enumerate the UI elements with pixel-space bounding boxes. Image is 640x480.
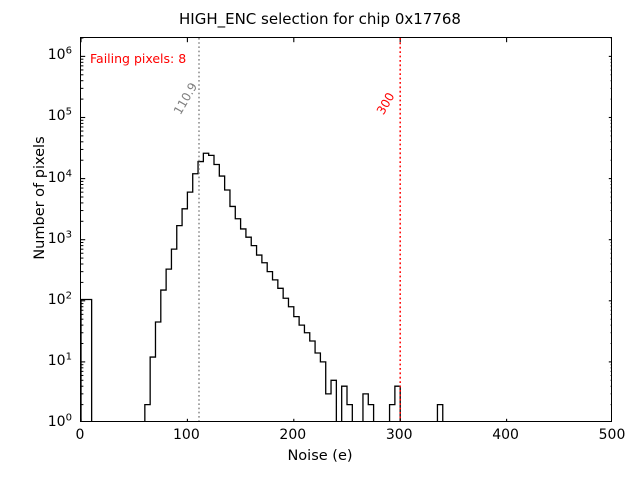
y-axis-tick-label: 101 [48, 353, 72, 369]
x-axis-label: Noise (e) [0, 448, 640, 464]
chart-title: HIGH_ENC selection for chip 0x17768 [0, 10, 640, 28]
x-axis-tick-label: 200 [279, 427, 306, 443]
x-axis-tick-marks [81, 38, 612, 422]
y-axis-tick-label: 104 [48, 170, 72, 186]
y-axis-tick-label: 103 [48, 231, 72, 247]
y-axis-label: Number of pixels [32, 78, 48, 318]
y-axis-tick-marks [81, 38, 612, 422]
y-axis-tick-label: 106 [48, 47, 72, 63]
x-axis-tick-label: 100 [173, 427, 200, 443]
y-axis-tick-label: 105 [48, 108, 72, 124]
histogram-steps [81, 153, 612, 422]
x-axis-tick-label: 400 [492, 427, 519, 443]
failing-pixels-annotation: Failing pixels: 8 [90, 51, 186, 66]
chart-figure: HIGH_ENC selection for chip 0x17768 1001… [0, 0, 640, 480]
x-axis-tick-label: 500 [599, 427, 626, 443]
y-axis-tick-label: 100 [48, 414, 72, 430]
y-axis-tick-label: 102 [48, 292, 72, 308]
plot-area [80, 37, 612, 422]
histogram-svg [81, 38, 612, 422]
x-axis-tick-label: 0 [76, 427, 85, 443]
x-axis-tick-label: 300 [386, 427, 413, 443]
